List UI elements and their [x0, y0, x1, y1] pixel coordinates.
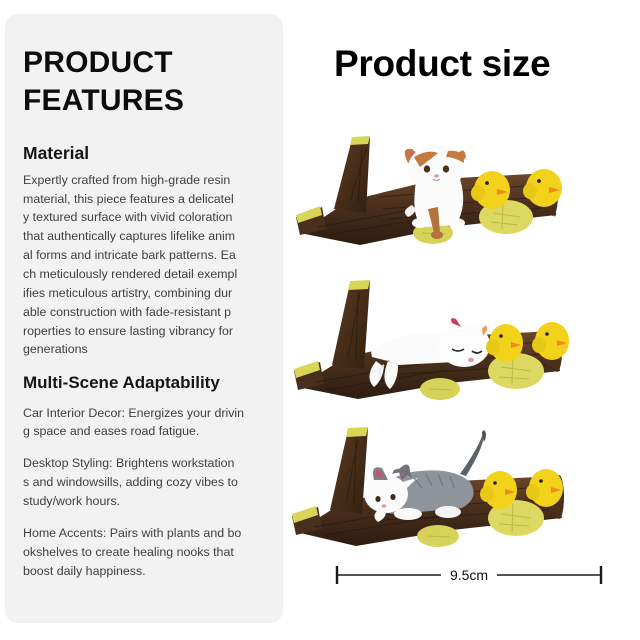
product-photo-grey-cat — [288, 408, 640, 560]
product-photo-calico-cat — [288, 105, 640, 260]
section-heading-multi-scene: Multi-Scene Adaptability — [23, 373, 265, 393]
product-photo-white-cat — [288, 265, 640, 413]
product-listing-image: PRODUCT FEATURES Material Expertly craft… — [0, 0, 640, 640]
moss-patch — [348, 280, 370, 290]
desktop-styling-text: Desktop Styling: Brightens workstation s… — [23, 454, 265, 511]
product-size-panel: Product size — [288, 0, 640, 640]
section-heading-material: Material — [23, 143, 265, 164]
moss-patch — [350, 136, 370, 145]
home-accents-text: Home Accents: Pairs with plants and bo o… — [23, 524, 265, 581]
product-size-title: Product size — [334, 45, 550, 82]
material-description: Expertly crafted from high-grade resin m… — [23, 171, 265, 359]
car-interior-decor-text: Car Interior Decor: Energizes your drivi… — [23, 404, 265, 442]
measurement-bar: 9.5cm — [334, 560, 604, 590]
moss-patch — [346, 427, 368, 437]
product-features-card: PRODUCT FEATURES Material Expertly craft… — [5, 14, 283, 623]
measurement-label-wrap: 9.5cm — [334, 560, 604, 590]
measurement-value: 9.5cm — [441, 567, 497, 583]
page-title: PRODUCT FEATURES — [23, 44, 265, 121]
